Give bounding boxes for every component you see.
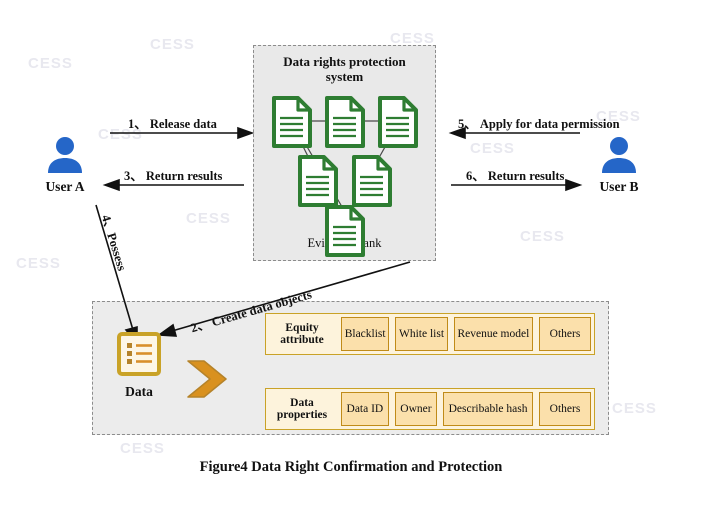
figure-caption: Figure4 Data Right Confirmation and Prot… <box>0 459 702 476</box>
watermark: CESS <box>612 400 657 417</box>
property-cell-others[interactable]: Others <box>539 392 591 426</box>
list-icon <box>115 330 163 378</box>
equity-cell-revenue-model[interactable]: Revenue model <box>454 317 533 351</box>
flow-label-4: 4、Possess <box>98 212 133 273</box>
chevron-right-icon <box>186 359 232 399</box>
watermark: CESS <box>120 440 165 457</box>
data-properties-header: Dataproperties <box>269 392 335 426</box>
watermark: CESS <box>150 36 195 53</box>
flow-label-1: 1、 Release data <box>128 113 217 132</box>
user-b-label: User B <box>584 179 654 195</box>
data-node[interactable]: Data <box>108 330 170 400</box>
equity-attribute-row: Equityattribute Blacklist White list Rev… <box>265 313 595 355</box>
watermark: CESS <box>470 140 515 157</box>
equity-cell-whitelist[interactable]: White list <box>395 317 447 351</box>
user-a-label: User A <box>30 179 100 195</box>
flow-label-3: 3、 Return results <box>124 165 222 184</box>
watermark: CESS <box>28 55 73 72</box>
watermark: CESS <box>520 228 565 245</box>
user-a[interactable]: User A <box>30 133 100 195</box>
data-properties-row: Dataproperties Data ID Owner Describable… <box>265 388 595 430</box>
equity-cell-others[interactable]: Others <box>539 317 591 351</box>
user-b[interactable]: User B <box>584 133 654 195</box>
equity-attribute-header: Equityattribute <box>269 317 335 351</box>
user-icon <box>43 133 87 177</box>
flow-label-6: 6、 Return results <box>466 165 564 184</box>
equity-cell-blacklist[interactable]: Blacklist <box>341 317 389 351</box>
evidence-bank-label: Evidence bank <box>254 236 435 251</box>
user-icon <box>597 133 641 177</box>
data-rights-protection-system-panel: Data rights protection system Evidence b… <box>253 45 436 261</box>
flow-label-5: 5、 Apply for data permission <box>458 113 620 132</box>
property-cell-data-id[interactable]: Data ID <box>341 392 389 426</box>
system-panel-title: Data rights protection system <box>254 54 435 84</box>
data-node-label: Data <box>108 384 170 400</box>
property-cell-owner[interactable]: Owner <box>395 392 437 426</box>
watermark: CESS <box>16 255 61 272</box>
property-cell-describable-hash[interactable]: Describable hash <box>443 392 533 426</box>
watermark: CESS <box>186 210 231 227</box>
